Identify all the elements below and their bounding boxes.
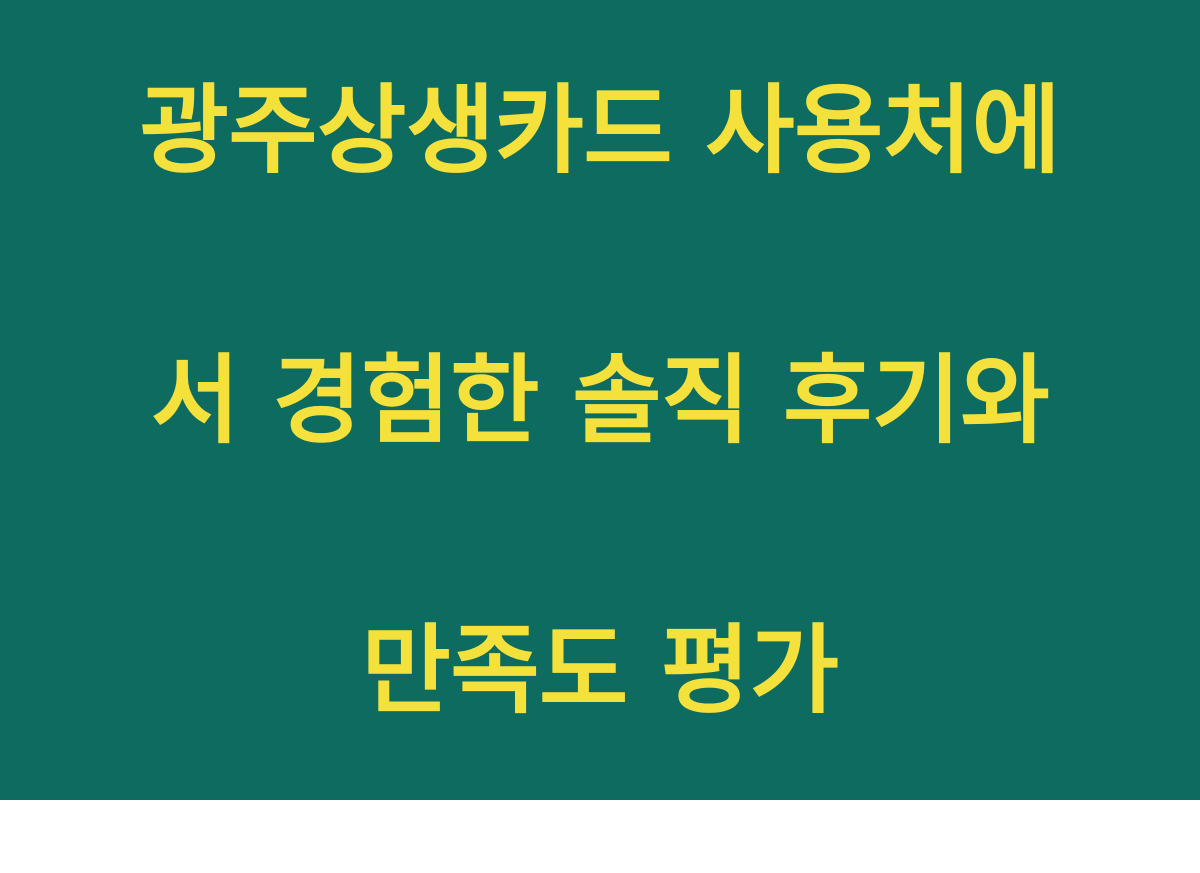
page-title: 광주상생카드 사용처에 서 경험한 솔직 후기와 만족도 평가 [0, 0, 1200, 873]
headline-line-2: 서 경험한 솔직 후기와 [40, 333, 1160, 468]
banner-background: 광주상생카드 사용처에 서 경험한 솔직 후기와 만족도 평가 [0, 0, 1200, 800]
headline-line-3: 만족도 평가 [40, 603, 1160, 738]
headline-line-1: 광주상생카드 사용처에 [40, 63, 1160, 198]
